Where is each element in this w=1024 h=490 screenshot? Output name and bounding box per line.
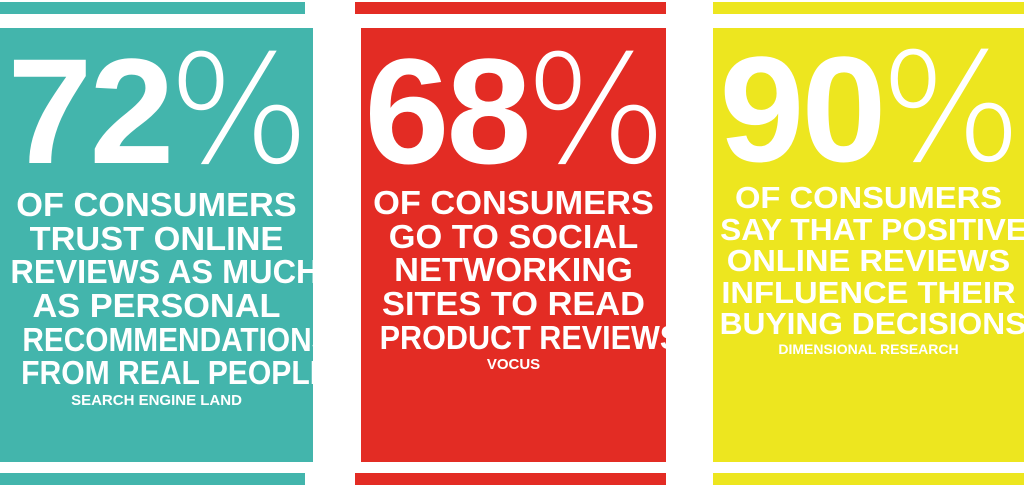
panel-top-rule — [355, 2, 666, 14]
body-line: RECOMMENDATIONS — [22, 323, 290, 357]
panel-top-rule — [713, 2, 1024, 14]
body-line: NETWORKING — [363, 253, 664, 287]
body-line: GO TO SOCIAL — [363, 220, 664, 254]
body-line: AS PERSONAL — [2, 289, 311, 323]
panel-bottom-rule — [0, 473, 305, 485]
body-line: PRODUCT REVIEWS — [380, 321, 648, 355]
panel-source-credit: SEARCH ENGINE LAND — [0, 392, 313, 409]
panel-top-gap — [713, 14, 1024, 28]
stat-value: 90% — [713, 28, 1024, 178]
body-line: FROM REAL PEOPLE — [21, 356, 292, 390]
panel-card: 72% OF CONSUMERS TRUST ONLINE REVIEWS AS… — [0, 28, 313, 462]
stat-number: 90 — [719, 40, 883, 178]
panel-body-text: OF CONSUMERS TRUST ONLINE REVIEWS AS MUC… — [0, 188, 313, 390]
body-line: ONLINE REVIEWS — [715, 245, 1022, 277]
panel-body-text: OF CONSUMERS GO TO SOCIAL NETWORKING SIT… — [361, 186, 666, 354]
panel-source-credit: DIMENSIONAL RESEARCH — [713, 341, 1024, 357]
body-line: OF CONSUMERS — [363, 186, 664, 220]
percent-symbol: % — [880, 40, 1017, 178]
panel-body-text: OF CONSUMERS SAY THAT POSITIVE ONLINE RE… — [713, 182, 1024, 340]
panel-top-gap — [355, 14, 666, 28]
body-line: SAY THAT POSITIVE — [720, 214, 1017, 246]
stat-panel-yellow: 90% OF CONSUMERS SAY THAT POSITIVE ONLIN… — [713, 0, 1024, 490]
panel-spacer — [0, 409, 313, 462]
body-line: TRUST ONLINE — [2, 222, 311, 256]
panel-spacer — [713, 357, 1024, 462]
body-line: OF CONSUMERS — [715, 182, 1022, 214]
stat-value: 72% — [0, 28, 313, 180]
percent-symbol: % — [525, 42, 662, 180]
stat-panel-teal: 72% OF CONSUMERS TRUST ONLINE REVIEWS AS… — [0, 0, 313, 490]
panel-card: 68% OF CONSUMERS GO TO SOCIAL NETWORKING… — [361, 28, 666, 462]
panel-spacer — [361, 373, 666, 462]
panel-bottom-gap — [0, 462, 313, 473]
infographic-root: 72% OF CONSUMERS TRUST ONLINE REVIEWS AS… — [0, 0, 1024, 490]
stat-value: 68% — [361, 28, 666, 180]
body-line: SITES TO READ — [363, 287, 664, 321]
percent-symbol: % — [168, 42, 305, 180]
body-line: REVIEWS AS MUCH — [10, 255, 302, 289]
panel-card: 90% OF CONSUMERS SAY THAT POSITIVE ONLIN… — [713, 28, 1024, 462]
panel-top-rule — [0, 2, 305, 14]
stat-number: 68 — [364, 42, 528, 180]
body-line: BUYING DECISIONS — [720, 308, 1018, 340]
panel-top-gap — [0, 14, 313, 28]
body-line: INFLUENCE THEIR — [715, 277, 1022, 309]
stat-number: 72 — [7, 42, 171, 180]
panel-bottom-rule — [713, 473, 1024, 485]
stat-panel-red: 68% OF CONSUMERS GO TO SOCIAL NETWORKING… — [355, 0, 666, 490]
panel-bottom-rule — [355, 473, 666, 485]
panel-bottom-gap — [713, 462, 1024, 473]
panel-source-credit: VOCUS — [361, 356, 666, 373]
body-line: OF CONSUMERS — [2, 188, 311, 222]
panel-bottom-gap — [355, 462, 666, 473]
